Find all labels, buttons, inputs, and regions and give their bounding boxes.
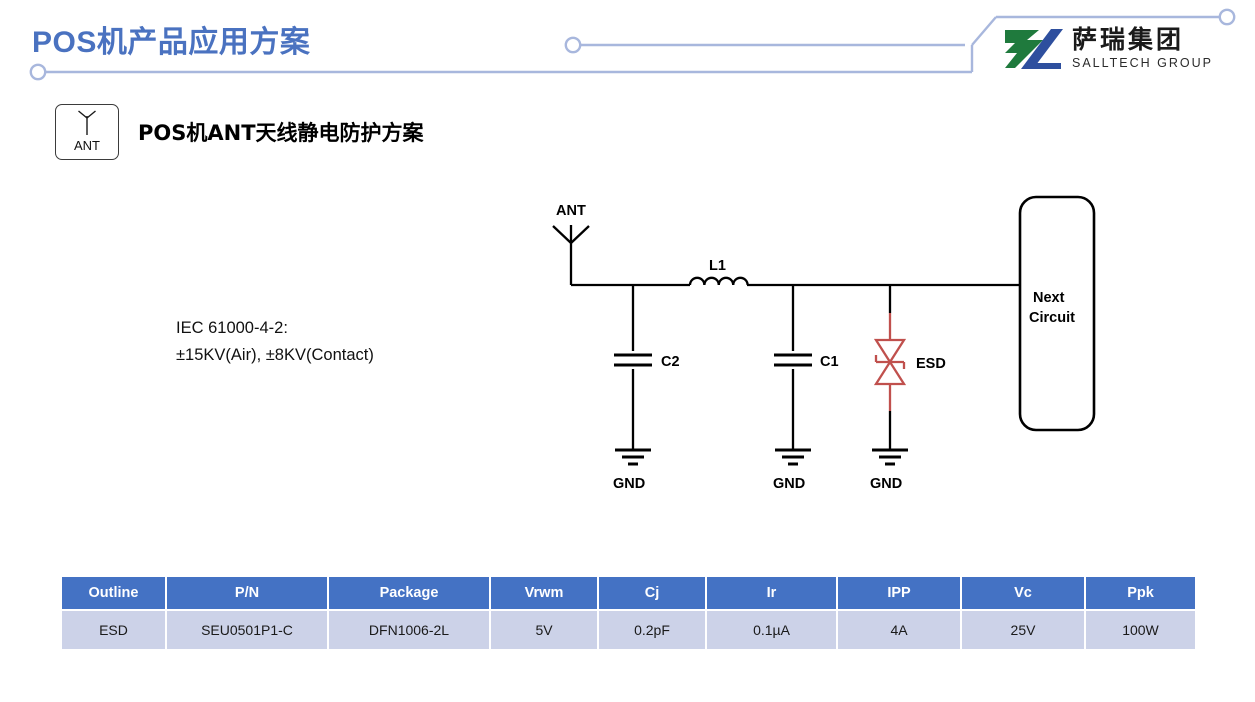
cell-cj: 0.2pF [599, 611, 707, 649]
cell-vc: 25V [962, 611, 1086, 649]
slide-canvas: POS机产品应用方案 萨瑞集团 SALLTECH GROUP ANT POS机A… [0, 0, 1255, 702]
capacitor-c2-label: C2 [661, 354, 680, 370]
table-header-row: Outline P/N Package Vrwm Cj Ir IPP Vc Pp… [62, 577, 1195, 611]
inductor-label: L1 [709, 258, 726, 274]
ant-badge: ANT [55, 104, 119, 160]
section-heading: POS机ANT天线静电防护方案 [138, 117, 424, 147]
esd-label: ESD [916, 356, 946, 372]
salltech-logo-mark [1003, 26, 1065, 72]
esd-diode-branch [872, 285, 908, 464]
capacitor-c1-label: C1 [820, 354, 839, 370]
capacitor-c2-branch [614, 285, 652, 464]
iec-standard-note: IEC 61000-4-2: ±15KV(Air), ±8KV(Contact) [176, 315, 374, 368]
gnd-label-c1: GND [773, 476, 805, 492]
iec-note-line2: ±15KV(Air), ±8KV(Contact) [176, 342, 374, 369]
column-header-vrwm: Vrwm [491, 577, 599, 611]
cell-ipp: 4A [838, 611, 962, 649]
gnd-label-c2: GND [613, 476, 645, 492]
column-header-outline: Outline [62, 577, 167, 611]
iec-note-line1: IEC 61000-4-2: [176, 315, 374, 342]
antenna-icon [74, 109, 100, 137]
logo-name-cn: 萨瑞集团 [1072, 27, 1213, 53]
cell-ir: 0.1µA [707, 611, 838, 649]
cell-outline: ESD [62, 611, 167, 649]
gnd-label-esd: GND [870, 476, 902, 492]
antenna-symbol [553, 225, 589, 285]
next-circuit-line2: Circuit [1029, 310, 1075, 326]
column-header-vc: Vc [962, 577, 1086, 611]
next-circuit-block: Next Circuit [1020, 197, 1094, 430]
column-header-ipp: IPP [838, 577, 962, 611]
cell-ppk: 100W [1086, 611, 1195, 649]
cell-pn: SEU0501P1-C [167, 611, 329, 649]
column-header-pn: P/N [167, 577, 329, 611]
ant-badge-label: ANT [74, 138, 100, 153]
column-header-cj: Cj [599, 577, 707, 611]
table-row: ESD SEU0501P1-C DFN1006-2L 5V 0.2pF 0.1µ… [62, 611, 1195, 649]
antenna-label: ANT [556, 203, 586, 219]
logo-name-en: SALLTECH GROUP [1072, 56, 1213, 71]
inductor-symbol [690, 278, 748, 285]
brand-logo: 萨瑞集团 SALLTECH GROUP [1003, 22, 1225, 76]
cell-vrwm: 5V [491, 611, 599, 649]
column-header-ppk: Ppk [1086, 577, 1195, 611]
capacitor-c1-branch [774, 285, 812, 464]
page-title: POS机产品应用方案 [32, 17, 310, 61]
next-circuit-line1: Next [1033, 290, 1065, 306]
cell-package: DFN1006-2L [329, 611, 491, 649]
column-header-ir: Ir [707, 577, 838, 611]
spec-table: Outline P/N Package Vrwm Cj Ir IPP Vc Pp… [62, 577, 1195, 649]
column-header-package: Package [329, 577, 491, 611]
circuit-schematic: ANT L1 C2 GND [520, 185, 1120, 515]
